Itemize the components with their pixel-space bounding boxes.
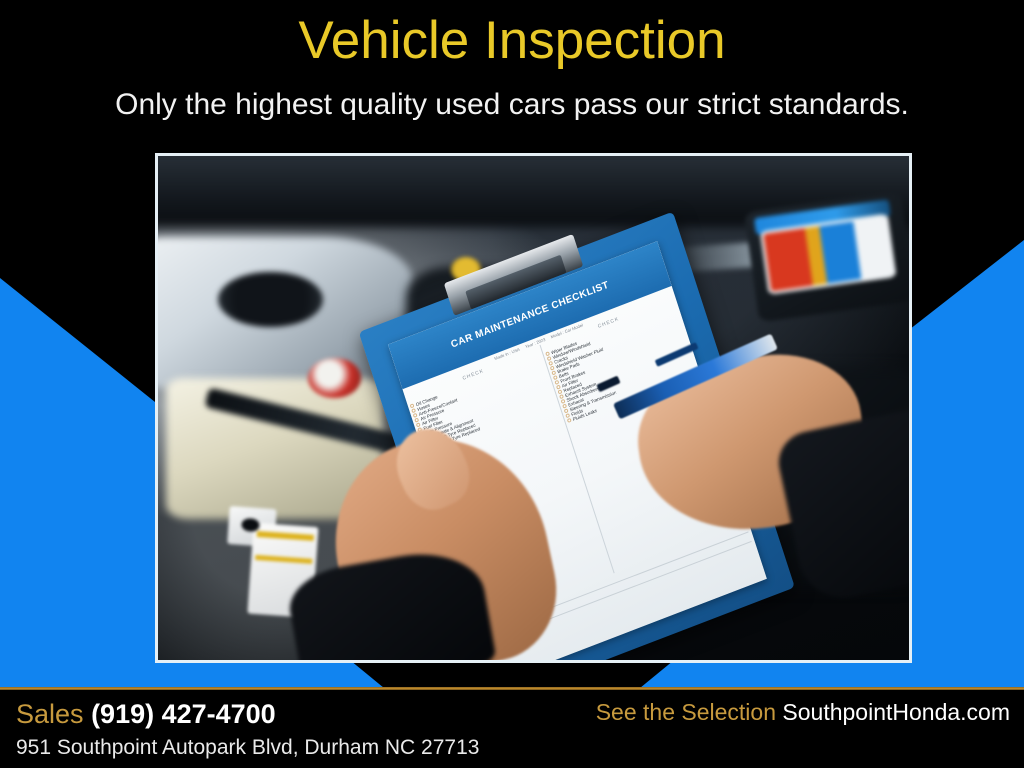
advertisement-slide: Vehicle Inspection Only the highest qual…: [0, 0, 1024, 768]
gold-divider-rule: [0, 687, 1024, 690]
sales-phone-line: Sales (919) 427-4700: [16, 698, 479, 732]
website-block: See the Selection SouthpointHonda.com: [596, 699, 1010, 726]
sales-label: Sales: [16, 699, 84, 729]
footer-bar: Sales (919) 427-4700 951 Southpoint Auto…: [0, 691, 1024, 768]
see-the-selection-label: See the Selection: [596, 699, 776, 725]
website-url[interactable]: SouthpointHonda.com: [782, 699, 1010, 725]
checkbox-circle-icon[interactable]: [567, 418, 572, 423]
page-subtitle: Only the highest quality used cars pass …: [0, 88, 1024, 121]
car-battery: [744, 191, 909, 323]
reservoir-red-cap: [308, 358, 361, 398]
dealer-address: 951 Southpoint Autopark Blvd, Durham NC …: [16, 734, 479, 761]
sales-phone-number[interactable]: (919) 427-4700: [91, 699, 276, 729]
engine-cover-opening: [218, 272, 323, 327]
page-title: Vehicle Inspection: [0, 14, 1024, 67]
engine-bay-photo: CAR MAINTENANCE CHECKLIST Made in : USA …: [158, 156, 909, 660]
inspection-photo-frame: CAR MAINTENANCE CHECKLIST Made in : USA …: [155, 153, 912, 663]
dealer-contact-block: Sales (919) 427-4700 951 Southpoint Auto…: [16, 698, 479, 761]
